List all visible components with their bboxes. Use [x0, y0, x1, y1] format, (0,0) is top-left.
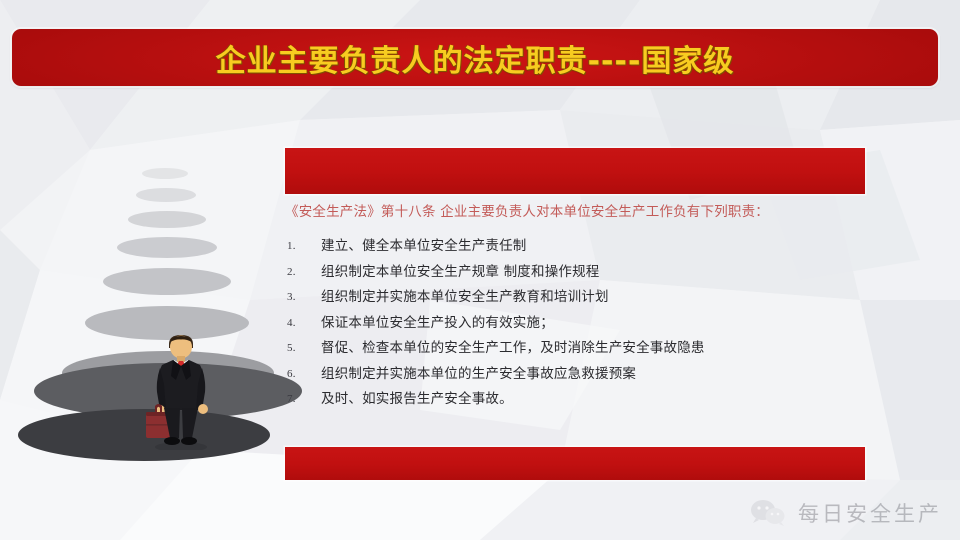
red-bar-bottom — [285, 447, 865, 480]
podium-ellipse-3 — [128, 211, 206, 228]
podium-ellipse-2 — [136, 188, 196, 202]
list-item: 建立、健全本单位安全生产责任制 — [285, 234, 865, 260]
wechat-icon — [748, 498, 788, 528]
panel-body: 《安全生产法》第十八条 企业主要负责人对本单位安全生产工作负有下列职责： 建立、… — [285, 200, 865, 413]
watermark-label: 每日安全生产 — [798, 498, 942, 528]
list-item: 保证本单位安全生产投入的有效实施； — [285, 311, 865, 337]
page-title: 企业主要负责人的法定职责----国家级 — [216, 36, 735, 80]
podium-ellipse-5 — [103, 268, 231, 295]
list-item: 及时、如实报告生产安全事故。 — [285, 387, 865, 413]
podium-ellipse-1 — [142, 168, 188, 179]
slide-title-bar: 企业主要负责人的法定职责----国家级 — [12, 29, 938, 86]
content-panel: 《安全生产法》第十八条 企业主要负责人对本单位安全生产工作负有下列职责： 建立、… — [285, 148, 865, 480]
law-intro-text: 《安全生产法》第十八条 企业主要负责人对本单位安全生产工作负有下列职责： — [285, 200, 865, 224]
businessman-figure — [138, 332, 224, 450]
podium-illustration — [0, 120, 300, 540]
podium-ellipse-4 — [117, 237, 217, 258]
list-item: 组织制定并实施本单位的生产安全事故应急救援预案 — [285, 362, 865, 388]
list-item: 组织制定并实施本单位安全生产教育和培训计划 — [285, 285, 865, 311]
red-bar-top — [285, 148, 865, 194]
duty-list: 建立、健全本单位安全生产责任制 组织制定本单位安全生产规章 制度和操作规程 组织… — [285, 234, 865, 413]
watermark: 每日安全生产 — [748, 498, 942, 528]
list-item: 组织制定本单位安全生产规章 制度和操作规程 — [285, 260, 865, 286]
list-item: 督促、检查本单位的安全生产工作，及时消除生产安全事故隐患 — [285, 336, 865, 362]
slide-canvas: 《安全生产法》第十八条 企业主要负责人对本单位安全生产工作负有下列职责： 建立、… — [0, 0, 960, 540]
